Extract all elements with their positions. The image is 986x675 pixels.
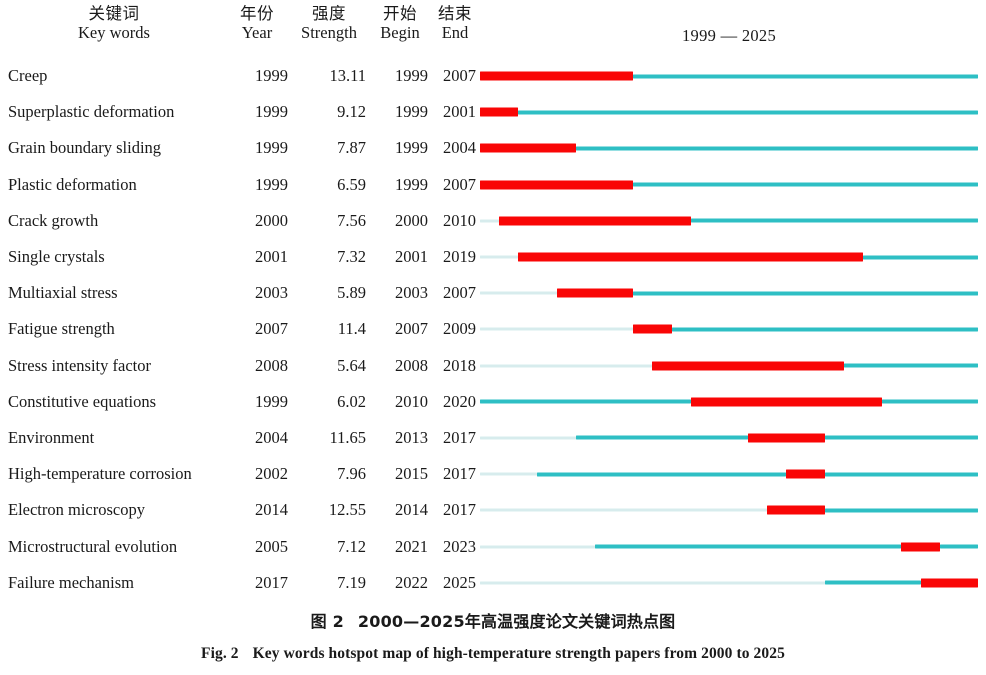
table-row: Failure mechanism20177.1920222025 [0,565,986,601]
segment-burst [480,108,518,117]
column-header-strength: 强度 Strength [290,4,368,43]
row-end: 2017 [430,502,476,519]
segment-active-before-burst [595,545,901,549]
segment-pre-appearance [480,364,652,367]
column-header-year: 年份 Year [226,4,288,43]
segment-active-after-burst [863,255,978,259]
row-keyword: High-temperature corrosion [8,466,226,483]
segment-active-after-burst [633,183,978,187]
row-year: 2004 [226,430,288,447]
figure-caption-en-text: Key words hotspot map of high-temperatur… [253,645,785,662]
row-end: 2009 [430,321,476,338]
table-row: Single crystals20017.3220012019 [0,239,986,275]
timeline-range-label: 1999 — 2025 [480,26,978,46]
row-strength: 5.89 [292,285,366,302]
table-row: Multiaxial stress20035.8920032007 [0,275,986,311]
row-keyword: Electron microscopy [8,502,226,519]
column-header-keywords-en: Key words [8,23,220,42]
table-header: 关键词 Key words 年份 Year 强度 Strength 开始 Beg… [0,0,986,58]
row-year: 1999 [226,104,288,121]
row-begin: 1999 [370,140,428,157]
row-begin: 2014 [370,502,428,519]
table-row: Fatigue strength200711.420072009 [0,311,986,347]
row-keyword: Microstructural evolution [8,538,226,555]
segment-pre-appearance [480,292,557,295]
row-keyword: Creep [8,68,226,85]
table-row: Creep199913.1119992007 [0,58,986,94]
burst-timeline-track [480,253,978,262]
segment-burst [480,72,633,81]
row-year: 2000 [226,213,288,230]
column-header-begin: 开始 Begin [370,4,430,43]
table-row: Plastic deformation19996.5919992007 [0,167,986,203]
row-end: 2020 [430,394,476,411]
burst-timeline-track [480,433,978,442]
row-begin: 2007 [370,321,428,338]
burst-rows: Creep199913.1119992007Superplastic defor… [0,58,986,601]
column-header-year-en: Year [226,23,288,42]
row-end: 2004 [430,140,476,157]
segment-burst [480,144,576,153]
row-end: 2007 [430,68,476,85]
segment-burst [518,253,863,262]
segment-pre-appearance [480,256,518,259]
row-begin: 2000 [370,213,428,230]
row-strength: 7.32 [292,249,366,266]
figure-caption-english: Fig. 2Key words hotspot map of high-temp… [0,645,986,663]
row-end: 2025 [430,574,476,591]
row-begin: 1999 [370,68,428,85]
row-year: 1999 [226,140,288,157]
figure-caption-cn-prefix: 图 2 [311,612,344,631]
table-row: Grain boundary sliding19997.8719992004 [0,130,986,166]
row-strength: 7.96 [292,466,366,483]
column-header-begin-cn: 开始 [370,4,430,23]
segment-pre-appearance [480,545,595,548]
row-year: 2005 [226,538,288,555]
row-end: 2023 [430,538,476,555]
segment-active-before-burst [480,400,691,404]
burst-timeline-track [480,397,978,406]
row-end: 2007 [430,285,476,302]
row-end: 2010 [430,213,476,230]
segment-active-after-burst [672,327,978,331]
row-strength: 11.4 [292,321,366,338]
table-row: Constitutive equations19996.0220102020 [0,384,986,420]
segment-pre-appearance [480,219,499,222]
row-end: 2018 [430,357,476,374]
segment-pre-appearance [480,581,825,584]
segment-active-before-burst [537,472,786,476]
row-strength: 5.64 [292,357,366,374]
row-begin: 2015 [370,466,428,483]
row-strength: 13.11 [292,68,366,85]
column-header-keywords: 关键词 Key words [8,4,220,43]
row-strength: 9.12 [292,104,366,121]
figure-caption-chinese: 图 22000—2025年高温强度论文关键词热点图 [0,608,986,632]
segment-pre-appearance [480,473,537,476]
segment-burst [633,325,671,334]
row-strength: 7.87 [292,140,366,157]
burst-timeline-track [480,289,978,298]
row-keyword: Multiaxial stress [8,285,226,302]
row-begin: 2022 [370,574,428,591]
segment-active-after-burst [518,110,978,114]
row-strength: 12.55 [292,502,366,519]
column-header-begin-en: Begin [370,23,430,42]
burst-timeline-track [480,470,978,479]
segment-active-before-burst [576,436,748,440]
row-begin: 1999 [370,176,428,193]
column-header-strength-en: Strength [290,23,368,42]
figure-caption-cn-text: 2000—2025年高温强度论文关键词热点图 [358,612,675,631]
column-header-end: 结束 End [432,4,478,43]
segment-burst [652,361,844,370]
row-end: 2001 [430,104,476,121]
table-row: Stress intensity factor20085.6420082018 [0,348,986,384]
table-row: High-temperature corrosion20027.96201520… [0,456,986,492]
table-row: Microstructural evolution20057.122021202… [0,528,986,564]
row-keyword: Grain boundary sliding [8,140,226,157]
row-begin: 2010 [370,394,428,411]
burst-timeline-track [480,578,978,587]
segment-active-after-burst [940,545,978,549]
table-row: Superplastic deformation19999.1219992001 [0,94,986,130]
segment-active-after-burst [825,508,978,512]
row-strength: 7.12 [292,538,366,555]
burst-timeline-track [480,361,978,370]
burst-timeline-track [480,72,978,81]
burst-timeline-track [480,542,978,551]
row-year: 2002 [226,466,288,483]
segment-active-after-burst [825,436,978,440]
burst-timeline-track [480,108,978,117]
burst-timeline-track [480,216,978,225]
row-strength: 7.56 [292,213,366,230]
row-end: 2017 [430,430,476,447]
row-keyword: Constitutive equations [8,394,226,411]
column-header-end-cn: 结束 [432,4,478,23]
row-year: 1999 [226,68,288,85]
row-keyword: Crack growth [8,213,226,230]
row-year: 1999 [226,394,288,411]
burst-timeline-track [480,325,978,334]
segment-burst [767,506,824,515]
row-begin: 2001 [370,249,428,266]
segment-burst [786,470,824,479]
table-row: Environment200411.6520132017 [0,420,986,456]
burst-timeline-track [480,144,978,153]
segment-active-after-burst [633,74,978,78]
row-keyword: Single crystals [8,249,226,266]
row-year: 2003 [226,285,288,302]
segment-burst [921,578,978,587]
segment-pre-appearance [480,328,633,331]
row-keyword: Superplastic deformation [8,104,226,121]
burst-timeline-track [480,180,978,189]
segment-active-after-burst [633,291,978,295]
segment-active-after-burst [825,472,978,476]
row-keyword: Failure mechanism [8,574,226,591]
row-end: 2019 [430,249,476,266]
segment-active-after-burst [576,146,978,150]
figure-caption-en-prefix: Fig. 2 [201,645,239,662]
citation-burst-figure: 关键词 Key words 年份 Year 强度 Strength 开始 Beg… [0,0,986,675]
row-strength: 11.65 [292,430,366,447]
row-year: 2017 [226,574,288,591]
segment-active-before-burst [825,581,921,585]
row-year: 2008 [226,357,288,374]
column-header-year-cn: 年份 [226,4,288,23]
row-keyword: Stress intensity factor [8,357,226,374]
segment-active-after-burst [882,400,978,404]
column-header-keywords-cn: 关键词 [8,4,220,23]
row-year: 1999 [226,176,288,193]
row-year: 2007 [226,321,288,338]
burst-timeline-track [480,506,978,515]
table-row: Electron microscopy201412.5520142017 [0,492,986,528]
row-end: 2017 [430,466,476,483]
row-end: 2007 [430,176,476,193]
row-keyword: Plastic deformation [8,176,226,193]
segment-burst [748,433,825,442]
column-header-end-en: End [432,23,478,42]
row-begin: 2003 [370,285,428,302]
row-begin: 2008 [370,357,428,374]
segment-burst [901,542,939,551]
segment-burst [557,289,634,298]
row-begin: 2013 [370,430,428,447]
row-strength: 6.02 [292,394,366,411]
row-keyword: Environment [8,430,226,447]
row-year: 2014 [226,502,288,519]
segment-active-after-burst [691,219,978,223]
segment-active-after-burst [844,364,978,368]
table-row: Crack growth20007.5620002010 [0,203,986,239]
segment-burst [480,180,633,189]
segment-pre-appearance [480,509,767,512]
row-strength: 7.19 [292,574,366,591]
column-header-strength-cn: 强度 [290,4,368,23]
row-strength: 6.59 [292,176,366,193]
row-begin: 2021 [370,538,428,555]
row-keyword: Fatigue strength [8,321,226,338]
segment-pre-appearance [480,436,576,439]
row-begin: 1999 [370,104,428,121]
segment-burst [691,397,883,406]
segment-burst [499,216,691,225]
row-year: 2001 [226,249,288,266]
